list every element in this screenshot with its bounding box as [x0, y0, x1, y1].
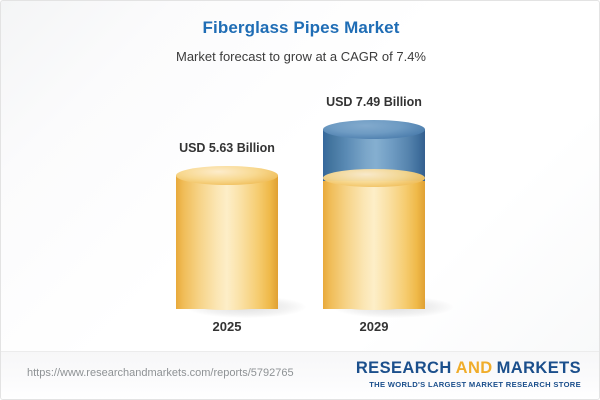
- report-url[interactable]: https://www.researchandmarkets.com/repor…: [27, 367, 294, 379]
- value-label-2025: USD 5.63 Billion: [127, 141, 327, 155]
- logo-tagline: THE WORLD'S LARGEST MARKET RESEARCH STOR…: [356, 380, 581, 389]
- footer: https://www.researchandmarkets.com/repor…: [1, 351, 600, 399]
- logo-word-research: RESEARCH: [356, 359, 452, 377]
- research-and-markets-logo[interactable]: RESEARCHANDMARKETS THE WORLD'S LARGEST M…: [356, 359, 581, 389]
- bar-2029: [323, 120, 425, 321]
- bar-bottom-ellipse-2029: [323, 291, 425, 310]
- logo-word-markets: MARKETS: [497, 359, 581, 377]
- bar-top-ellipse-2029: [323, 120, 425, 139]
- value-label-2029: USD 7.49 Billion: [274, 95, 474, 109]
- logo-wordmark: RESEARCHANDMARKETS: [356, 359, 581, 378]
- category-label-2029: 2029: [274, 319, 474, 334]
- bar-body-2025: [176, 175, 278, 309]
- bar-body-base-2029: [323, 177, 425, 309]
- chart-plot-area: USD 5.63 Billion USD 7.49 Billion 2025 2…: [1, 1, 600, 353]
- bar-top-ellipse-2025: [176, 166, 278, 185]
- logo-word-and: AND: [456, 359, 493, 377]
- infographic-card: Fiberglass Pipes Market Market forecast …: [0, 0, 600, 400]
- bar-2025: [176, 166, 278, 321]
- bar-bottom-ellipse-2025: [176, 291, 278, 310]
- bar-divider-ellipse-2029: [323, 169, 425, 187]
